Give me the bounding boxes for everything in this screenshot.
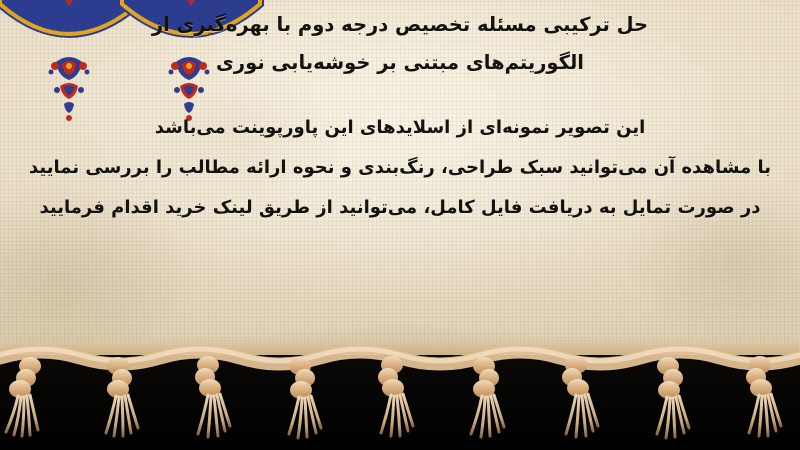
slide-title-line-1: حل ترکیبی مسئله تخصیص درجه دوم با بهره‌گ…: [0, 6, 800, 44]
slide-body-line-1: این تصویر نمونه‌ای از اسلایدهای این پاور…: [0, 108, 800, 148]
slide-canvas: حل ترکیبی مسئله تخصیص درجه دوم با بهره‌گ…: [0, 0, 800, 450]
slide-title-line-2: الگوریتم‌های مبتنی بر خوشه‌یابی نوری: [0, 44, 800, 82]
slide-title: حل ترکیبی مسئله تخصیص درجه دوم با بهره‌گ…: [0, 6, 800, 82]
bottom-black-band: [0, 355, 800, 450]
carpet-edge-binding: [0, 333, 800, 355]
slide-body-line-3: در صورت تمایل به دریافت فایل کامل، می‌تو…: [0, 188, 800, 228]
slide-body: این تصویر نمونه‌ای از اسلایدهای این پاور…: [0, 108, 800, 228]
slide-body-line-2: با مشاهده آن می‌توانید سبک طراحی، رنگ‌بن…: [0, 148, 800, 188]
